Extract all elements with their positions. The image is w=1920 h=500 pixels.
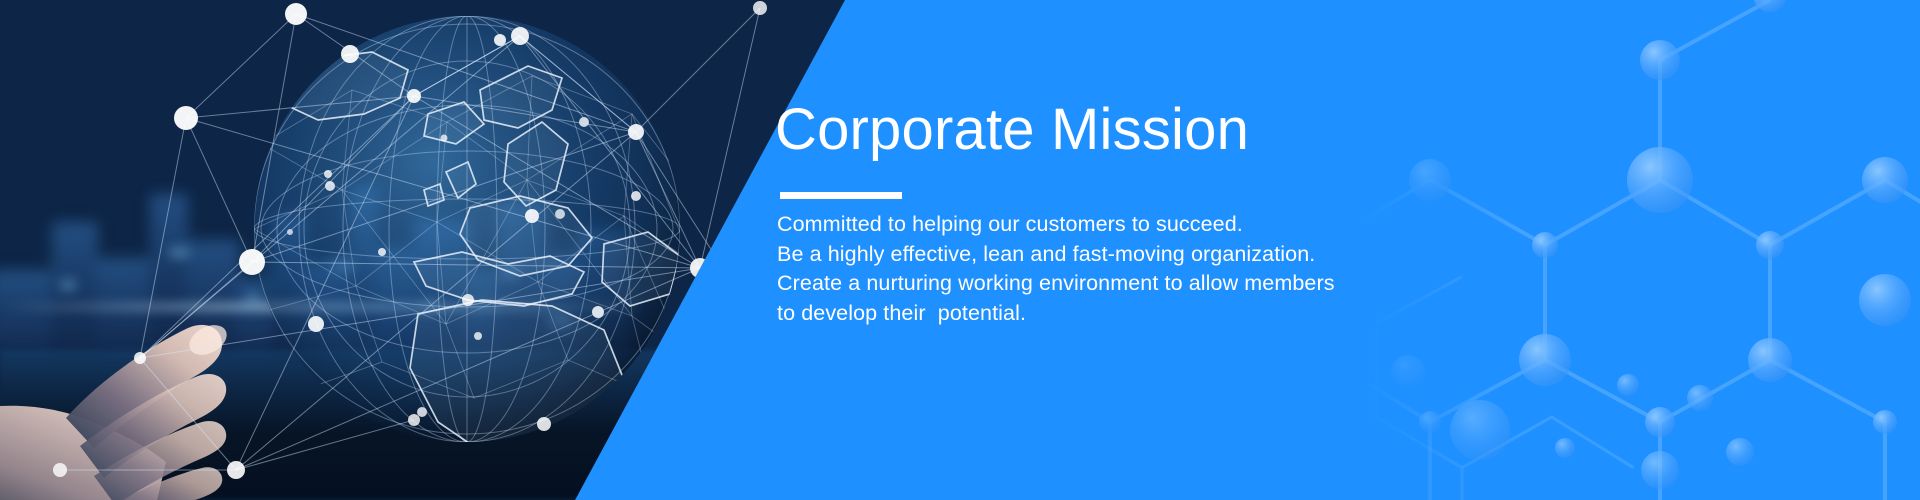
mission-line: Committed to helping our customers to su… bbox=[777, 210, 1477, 240]
page-title: Corporate Mission bbox=[775, 95, 1249, 165]
mission-content: Corporate Mission Committed to helping o… bbox=[775, 0, 1535, 500]
mission-line: Be a highly effective, lean and fast-mov… bbox=[777, 240, 1477, 270]
mission-line: to develop their potential. bbox=[777, 299, 1477, 329]
mission-statement: Committed to helping our customers to su… bbox=[777, 210, 1477, 328]
network-overlay bbox=[0, 0, 860, 500]
title-divider bbox=[780, 192, 902, 199]
mission-line: Create a nurturing working environment t… bbox=[777, 269, 1477, 299]
hero-photo bbox=[0, 0, 860, 500]
corporate-mission-banner: Corporate Mission Committed to helping o… bbox=[0, 0, 1920, 500]
